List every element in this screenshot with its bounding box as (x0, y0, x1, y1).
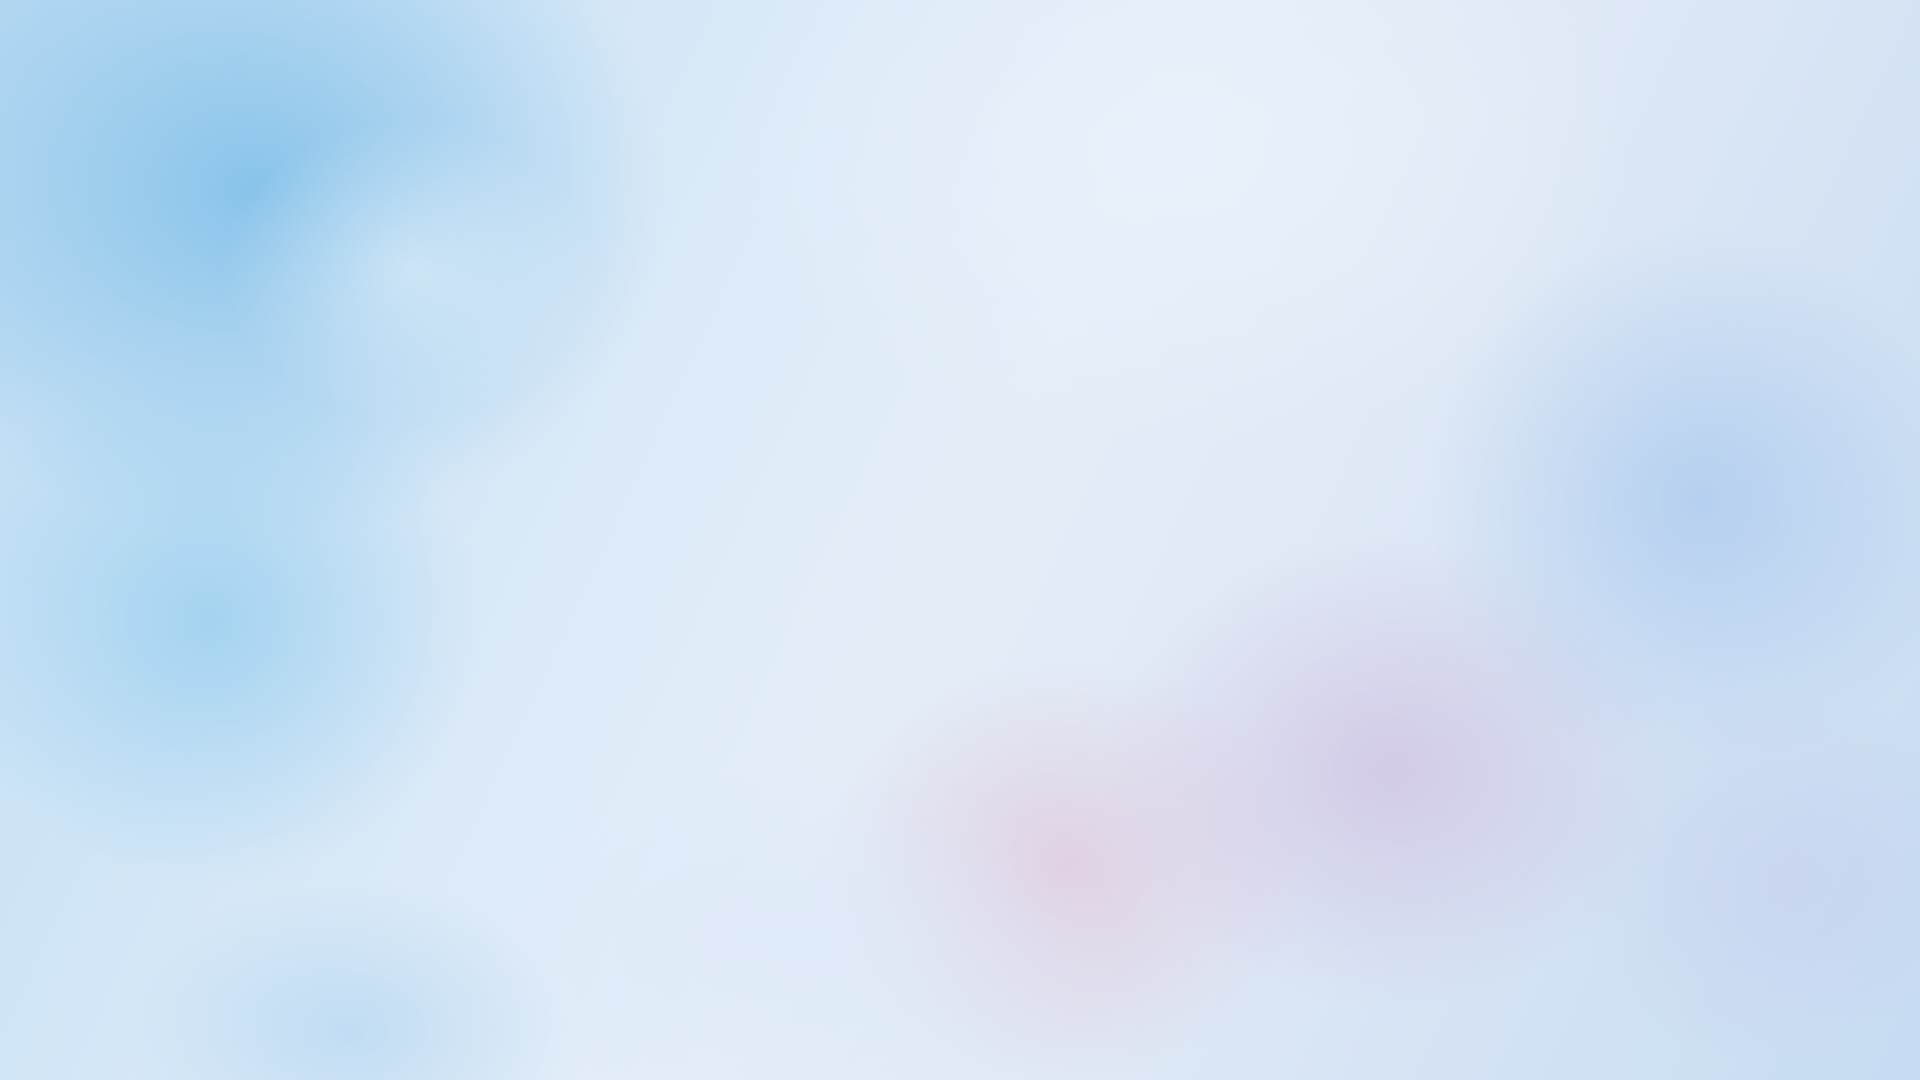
process-flow-diagram (0, 0, 1920, 1080)
process-arrow-band (88, 372, 1848, 468)
